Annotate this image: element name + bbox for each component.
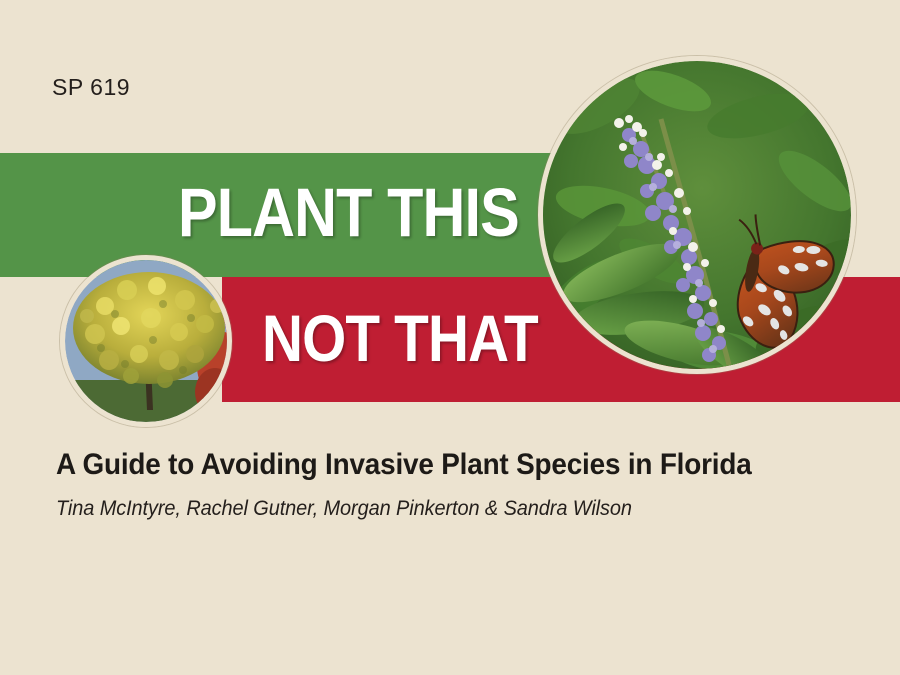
golden-rain-tree-photo-art <box>65 260 227 422</box>
partner-logo-row: UF IFAS Extension UNIVERSITY of FLORIDA … <box>0 562 900 634</box>
cover-subtitle: A Guide to Avoiding Invasive Plant Speci… <box>56 448 752 482</box>
publication-cover: SP 619 PLANT THIS <box>0 0 900 675</box>
headline-not-that: NOT THAT <box>262 305 538 371</box>
publication-number: SP 619 <box>52 74 130 101</box>
chaste-tree-photo-art <box>543 61 851 369</box>
headline-plant-this: PLANT THIS <box>178 178 519 247</box>
author-list: Tina McIntyre, Rachel Gutner, Morgan Pin… <box>56 497 632 521</box>
golden-rain-tree-photo <box>60 255 232 427</box>
chaste-tree-with-butterfly-photo <box>538 56 856 374</box>
